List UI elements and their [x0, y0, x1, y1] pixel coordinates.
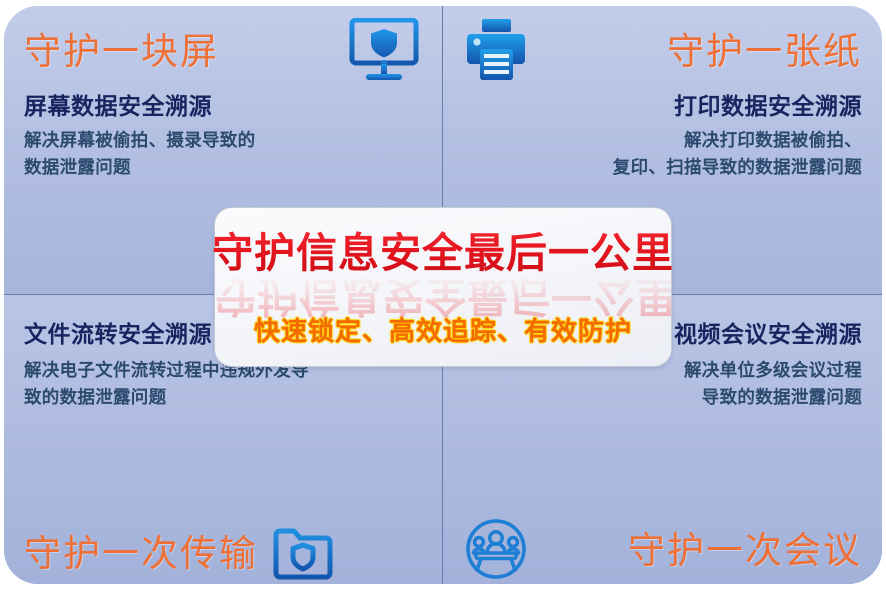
quadrant-desc-screen: 解决屏幕被偷拍、摄录导致的 数据泄露问题: [24, 127, 255, 181]
desc-line: 解决打印数据被偷拍、: [613, 127, 862, 154]
desc-line: 致的数据泄露问题: [24, 384, 309, 411]
infographic-canvas: 守护一块屏: [0, 0, 886, 605]
quadrant-slogan-screen: 守护一块屏: [24, 33, 219, 72]
printer-icon: [463, 18, 529, 87]
desc-line: 解决单位多级会议过程: [684, 357, 862, 384]
meeting-people-icon: [463, 517, 529, 584]
folder-shield-icon: [272, 523, 334, 584]
center-highlight-card[interactable]: 守护信息安全最后一公里 守护信息安全最后一公里 快速锁定、高效追踪、有效防护: [214, 207, 672, 367]
quadrant-headline-screen: 屏幕数据安全溯源: [24, 93, 212, 121]
quadrant-slogan-file: 守护一次传输: [24, 535, 258, 574]
desc-line: 复印、扫描导致的数据泄露问题: [613, 154, 862, 181]
quadrant-headline-print: 打印数据安全溯源: [674, 93, 862, 121]
desc-line: 数据泄露问题: [24, 154, 255, 181]
quadrant-desc-meeting: 解决单位多级会议过程 导致的数据泄露问题: [684, 357, 862, 411]
monitor-shield-icon: [348, 18, 422, 87]
center-subtitle: 快速锁定、高效追踪、有效防护: [254, 311, 632, 348]
quadrant-desc-print: 解决打印数据被偷拍、 复印、扫描导致的数据泄露问题: [613, 127, 862, 181]
desc-line: 导致的数据泄露问题: [684, 384, 862, 411]
quadrant-headline-meeting: 视频会议安全溯源: [674, 321, 862, 349]
quadrant-slogan-meeting: 守护一次会议: [628, 532, 862, 571]
quadrant-headline-file: 文件流转安全溯源: [24, 321, 212, 349]
desc-line: 解决屏幕被偷拍、摄录导致的: [24, 127, 255, 154]
quadrant-slogan-print: 守护一张纸: [667, 33, 862, 72]
center-title-wrap: 守护信息安全最后一公里 守护信息安全最后一公里: [215, 231, 671, 297]
center-title: 守护信息安全最后一公里: [212, 231, 674, 275]
